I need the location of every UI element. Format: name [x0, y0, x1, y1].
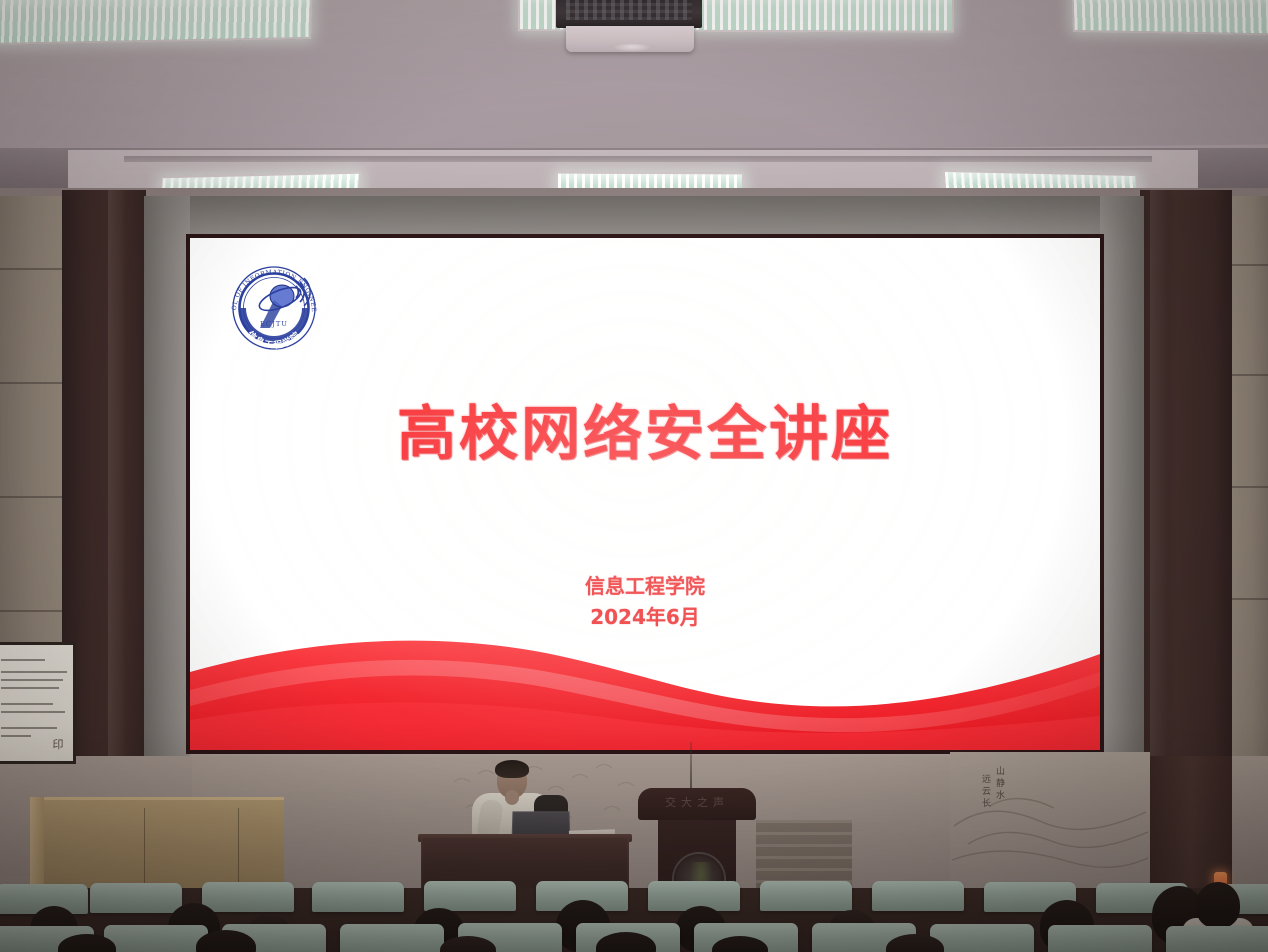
- wall-panels-right: [1228, 196, 1268, 756]
- presentation-slide: SCHOOL OF INFORMATION ENGINEERING ECJTU …: [190, 238, 1100, 750]
- audience-head: [1196, 882, 1240, 928]
- auditorium-seat: [424, 881, 516, 911]
- emblem-arc-top-text: SCHOOL OF INFORMATION ENGINEERING: [222, 256, 317, 313]
- svg-text:长: 长: [982, 797, 991, 809]
- auditorium-seat: [90, 883, 182, 913]
- lecture-hall-photo: SCHOOL OF INFORMATION ENGINEERING ECJTU …: [0, 0, 1268, 952]
- soffit-groove: [124, 156, 1152, 162]
- auditorium-seat: [760, 881, 852, 911]
- podium-microphone-icon: [690, 742, 692, 792]
- svg-text:SCHOOL OF INFORMATION ENGINEER: SCHOOL OF INFORMATION ENGINEERING: [222, 256, 317, 313]
- svg-text:水: 水: [996, 789, 1005, 801]
- auditorium-seat: [872, 881, 964, 911]
- auditorium-seat: [1166, 926, 1268, 952]
- school-emblem-logo: SCHOOL OF INFORMATION ENGINEERING ECJTU …: [222, 256, 326, 360]
- svg-text:云: 云: [982, 787, 991, 797]
- auditorium-seat: [930, 924, 1034, 952]
- screen-surround-top: [144, 196, 1144, 238]
- slide-subtitle-organization: 信息工程学院: [190, 571, 1100, 602]
- presenter-hand: [505, 790, 519, 805]
- svg-text:静: 静: [996, 777, 1005, 789]
- slide-wave-decoration: [190, 620, 1100, 750]
- svg-text:远: 远: [982, 774, 991, 785]
- projector-lens: [614, 44, 650, 51]
- screen-surround-left: [144, 196, 190, 772]
- ceiling-light-icon: [1071, 0, 1268, 36]
- wood-column-right: [1140, 190, 1232, 790]
- projector-mount: [556, 0, 702, 28]
- wall-notice-poster: 印: [0, 645, 73, 761]
- auditorium-seat: [340, 924, 444, 952]
- slide-title: 高校网络安全讲座: [190, 386, 1100, 471]
- screen-surround-right: [1100, 196, 1144, 772]
- podium-inscription: 交大之声: [638, 792, 756, 814]
- wall-mural-right: 山静 水 远云 长: [950, 752, 1150, 888]
- presenter-hair: [495, 760, 529, 778]
- ceiling-light-icon: [0, 0, 313, 45]
- auditorium-seat: [104, 925, 208, 952]
- emblem-abbrev: ECJTU: [260, 320, 288, 328]
- poster-seal-icon: 印: [51, 738, 65, 752]
- auditorium-seat: [1048, 925, 1152, 952]
- auditorium-seat: [312, 882, 404, 912]
- auditorium-seat: [202, 882, 294, 912]
- svg-text:山: 山: [996, 766, 1005, 777]
